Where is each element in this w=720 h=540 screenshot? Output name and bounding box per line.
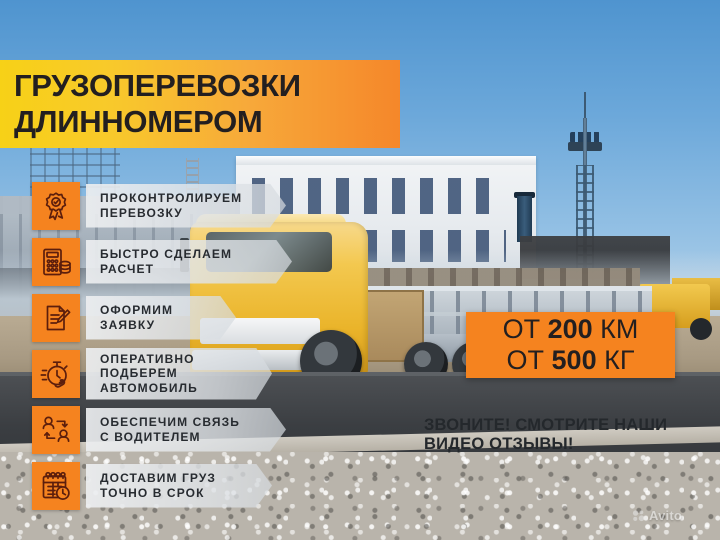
feature-item-fast-calculation: БЫСТРО СДЕЛАЕМ РАСЧЕТ [32,234,362,289]
second-truck-wheel [690,318,712,340]
feature-list: ПРОКОНТРОЛИРУЕМ ПЕРЕВОЗКУ БЫСТРО С [32,178,362,514]
feature-text-line-2: ЗАЯВКУ [100,318,236,333]
feature-text-line-2: С ВОДИТЕЛЕМ [100,430,286,445]
min-weight-prefix: ОТ [507,345,552,375]
cta-line-1: ЗВОНИТЕ! СМОТРИТЕ НАШИ [424,416,714,435]
min-weight-unit: КГ [597,345,635,375]
feature-text-line-1: ДОСТАВИМ ГРУЗ [100,471,272,486]
feature-text-line-3: АВТОМОБИЛЬ [100,381,272,396]
min-weight-value: 500 [552,345,597,375]
feature-text-panel: БЫСТРО СДЕЛАЕМ РАСЧЕТ [86,240,292,284]
feature-text-line-1: ОПЕРАТИВНО [100,352,272,367]
title-line-2: ДЛИННОМЕРОМ [14,104,400,140]
feature-text-panel: ОФОРМИМ ЗАЯВКУ [86,296,236,340]
feature-item-driver-contact: ОБЕСПЕЧИМ СВЯЗЬ С ВОДИТЕЛЕМ [32,402,362,457]
minimum-distance-line: ОТ 200 КМ [503,314,639,345]
feature-item-process-request: ОФОРМИМ ЗАЯВКУ [32,290,362,345]
people-exchange-icon [32,406,80,454]
min-distance-unit: КМ [593,314,639,344]
award-ribbon-icon [32,182,80,230]
feature-text-line-1: БЫСТРО СДЕЛАЕМ [100,247,292,262]
feature-text-panel: ПРОКОНТРОЛИРУЕМ ПЕРЕВОЗКУ [86,184,286,228]
avito-watermark-text: Avito [649,508,682,523]
min-distance-value: 200 [548,314,593,344]
feature-item-control-shipment: ПРОКОНТРОЛИРУЕМ ПЕРЕВОЗКУ [32,178,362,233]
feature-text-line-1: ПРОКОНТРОЛИРУЕМ [100,191,286,206]
feature-text-panel: ДОСТАВИМ ГРУЗ ТОЧНО В СРОК [86,464,272,508]
min-distance-prefix: ОТ [503,314,548,344]
title-banner: ГРУЗОПЕРЕВОЗКИ ДЛИННОМЕРОМ [0,60,400,148]
calculator-coins-icon [32,238,80,286]
minimum-order-badge: ОТ 200 КМ ОТ 500 КГ [466,312,675,378]
feature-text-line-1: ОБЕСПЕЧИМ СВЯЗЬ [100,415,286,430]
feature-item-select-vehicle: ОПЕРАТИВНО ПОДБЕРЕМ АВТОМОБИЛЬ [32,346,362,401]
stopwatch-hand-icon [32,350,80,398]
feature-text-panel: ОБЕСПЕЧИМ СВЯЗЬ С ВОДИТЕЛЕМ [86,408,286,452]
feature-item-on-time-delivery: ДОСТАВИМ ГРУЗ ТОЧНО В СРОК [32,458,362,513]
feature-text-line-2: ПЕРЕВОЗКУ [100,206,286,221]
feature-text-line-2: ПОДБЕРЕМ [100,366,272,381]
document-pen-icon [32,294,80,342]
feature-text-line-2: РАСЧЕТ [100,262,292,277]
avito-watermark: Avito [632,508,682,523]
minimum-weight-line: ОТ 500 КГ [507,345,635,376]
call-to-action: ЗВОНИТЕ! СМОТРИТЕ НАШИ ВИДЕО ОТЗЫВЫ! [424,416,714,454]
cta-line-2: ВИДЕО ОТЗЫВЫ! [424,435,714,454]
calendar-clock-icon [32,462,80,510]
title-line-1: ГРУЗОПЕРЕВОЗКИ [14,68,400,104]
avito-logo-icon [632,509,645,522]
advertisement-image: ГРУЗОПЕРЕВОЗКИ ДЛИННОМЕРОМ ПРОКОНТРОЛИРУ… [0,0,720,540]
feature-text-panel: ОПЕРАТИВНО ПОДБЕРЕМ АВТОМОБИЛЬ [86,348,272,400]
feature-text-line-2: ТОЧНО В СРОК [100,486,272,501]
feature-text-line-1: ОФОРМИМ [100,303,236,318]
